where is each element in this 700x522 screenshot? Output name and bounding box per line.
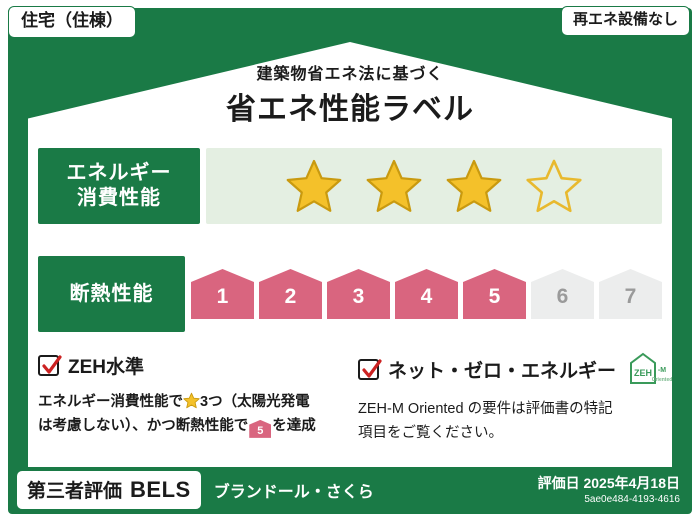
energy-performance-stars-area: [206, 148, 662, 224]
zeh-standard-block: ZEH水準 エネルギー消費性能で3つ（太陽光発電 は考慮しない）、かつ断熱性能で…: [38, 352, 338, 439]
bels-label: BELS: [130, 477, 191, 503]
energy-label-line2: 消費性能: [67, 186, 172, 211]
bottom-bar: 第三者評価 BELS ブランドール・さくら 評価日 2025年4月18日 5ae…: [8, 466, 692, 514]
grade-number: 3: [353, 285, 365, 309]
property-name: ブランドール・さくら: [214, 478, 374, 502]
grade-number: 1: [217, 285, 229, 309]
insulation-grade-5: 5: [463, 269, 526, 319]
page-title: 省エネ性能ラベル: [0, 84, 700, 128]
energy-label-line1: エネルギー: [67, 161, 172, 186]
net-zero-energy-block: ネット・ゼロ・エネルギー ZEH -M Oriented ZEH-M Orien…: [358, 352, 658, 446]
net-zero-energy-heading: ネット・ゼロ・エネルギー ZEH -M Oriented: [358, 352, 658, 386]
insulation-grade-7: 7: [599, 269, 662, 319]
building-type-tag: 住宅（住棟）: [8, 6, 136, 38]
zeh-standard-heading: ZEH水準: [38, 352, 338, 379]
evaluation-code: 5ae0e484-4193-4616: [538, 493, 680, 507]
insulation-grade-6: 6: [531, 269, 594, 319]
checkbox-checked-icon: [38, 355, 59, 376]
heading-subtitle: 建築物省エネ法に基づく: [0, 60, 700, 84]
insulation-grade-4: 4: [395, 269, 458, 319]
insulation-grade-3: 3: [327, 269, 390, 319]
star-outline-icon: [525, 158, 583, 214]
mini-star-icon: [183, 392, 200, 409]
checkbox-checked-icon: [358, 359, 379, 380]
star-filled-icon: [285, 158, 343, 214]
zeh-m-logo-icon: ZEH -M Oriented: [629, 352, 675, 386]
zeh-standard-title: ZEH水準: [68, 352, 144, 379]
renewable-energy-tag: 再エネ設備なし: [561, 6, 690, 36]
mini-grade-number: 5: [249, 420, 271, 442]
renewable-energy-label: 再エネ設備なし: [573, 11, 678, 28]
insulation-row-label: 断熱性能: [38, 256, 185, 332]
grade-number: 4: [421, 285, 433, 309]
insulation-grades-area: 1 2 3 4 5: [191, 256, 662, 332]
grade-number: 2: [285, 285, 297, 309]
nze-desc-line1: ZEH-M Oriented の要件は評価書の特記: [358, 401, 613, 417]
energy-performance-row: エネルギー 消費性能: [38, 148, 662, 224]
grade-number: 7: [625, 285, 637, 309]
zeh-desc-mid: 3つ（太陽光発電: [200, 394, 310, 410]
bels-badge: 第三者評価 BELS: [16, 470, 202, 510]
zeh-standard-description: エネルギー消費性能で3つ（太陽光発電 は考慮しない）、かつ断熱性能で5を達成: [38, 391, 338, 439]
insulation-grade-scale: 1 2 3 4 5: [191, 269, 662, 319]
insulation-grade-2: 2: [259, 269, 322, 319]
check-mark-icon: [41, 354, 63, 378]
zeh-desc-line2-post: を達成: [272, 418, 316, 434]
mini-grade-chevron: 5: [249, 420, 271, 438]
building-type-label: 住宅（住棟）: [21, 11, 123, 30]
svg-text:-M: -M: [658, 367, 666, 374]
zeh-desc-line2-pre: は考慮しない）、かつ断熱性能で: [38, 418, 248, 434]
grade-number: 6: [557, 285, 569, 309]
svg-text:ZEH: ZEH: [634, 368, 652, 378]
energy-performance-row-label: エネルギー 消費性能: [38, 148, 200, 224]
evaluation-info: 評価日 2025年4月18日 5ae0e484-4193-4616: [538, 474, 680, 506]
net-zero-energy-description: ZEH-M Oriented の要件は評価書の特記 項目をご覧ください。: [358, 398, 658, 446]
grade-number: 5: [489, 285, 501, 309]
star-filled-icon: [445, 158, 503, 214]
zeh-desc-pre: エネルギー消費性能で: [38, 394, 183, 410]
insulation-performance-row: 断熱性能 1 2 3 4: [38, 256, 662, 332]
insulation-label-text: 断熱性能: [70, 282, 154, 307]
nze-desc-line2: 項目をご覧ください。: [358, 425, 503, 441]
svg-text:Oriented: Oriented: [652, 377, 673, 383]
star-filled-icon: [365, 158, 423, 214]
insulation-grade-1: 1: [191, 269, 254, 319]
zeh-m-house-icon: ZEH -M Oriented: [629, 352, 675, 386]
star-rating: [285, 158, 583, 214]
third-party-eval-label: 第三者評価: [27, 476, 122, 503]
evaluation-date: 評価日 2025年4月18日: [538, 474, 680, 493]
net-zero-energy-title: ネット・ゼロ・エネルギー: [388, 356, 616, 383]
energy-performance-label: 住宅（住棟） 再エネ設備なし 建築物省エネ法に基づく 省エネ性能ラベル エネルギ…: [0, 0, 700, 522]
check-mark-icon: [361, 358, 383, 382]
